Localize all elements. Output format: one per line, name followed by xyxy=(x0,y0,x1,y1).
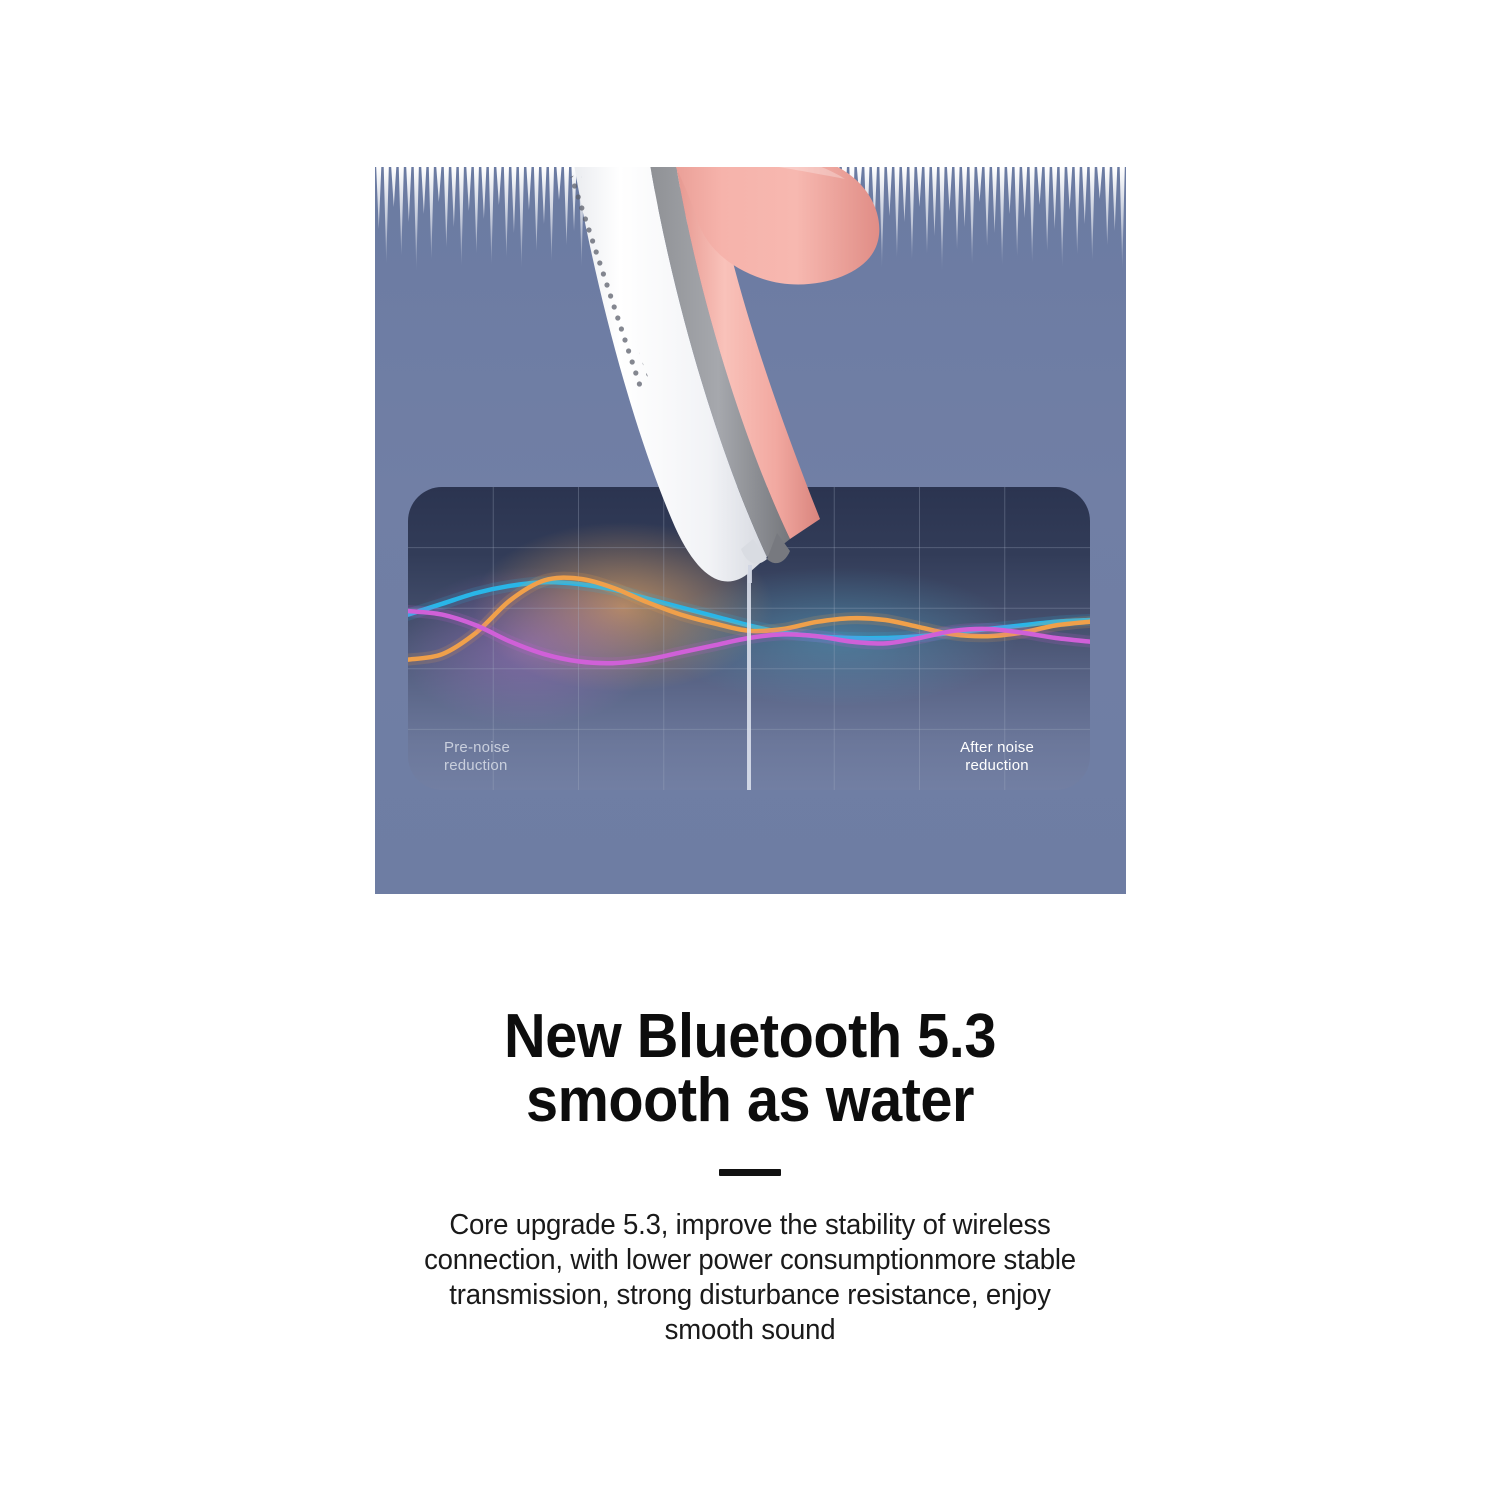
after-noise-label: After noise reduction xyxy=(960,739,1034,775)
headline-line-2: smooth as water xyxy=(526,1066,974,1135)
page-title: New Bluetooth 5.3 smooth as water xyxy=(53,1005,1448,1133)
headline-line-1: New Bluetooth 5.3 xyxy=(504,1002,996,1071)
pre-noise-label: Pre-noise reduction xyxy=(444,739,510,775)
copy-block: New Bluetooth 5.3 smooth as water Core u… xyxy=(0,1005,1500,1348)
after-noise-label-line1: After noise xyxy=(960,739,1034,756)
noise-reduction-chart: Pre-noise reduction After noise reductio… xyxy=(408,487,1090,790)
audio-waveform-icon xyxy=(375,167,1126,297)
title-divider xyxy=(719,1169,781,1176)
pre-noise-label-line1: Pre-noise xyxy=(444,739,510,756)
hero-image-panel: Pre-noise reduction After noise reductio… xyxy=(375,167,1126,894)
after-noise-label-line2: reduction xyxy=(965,757,1029,774)
pre-noise-label-line2: reduction xyxy=(444,757,508,774)
body-description: Core upgrade 5.3, improve the stability … xyxy=(408,1208,1092,1348)
